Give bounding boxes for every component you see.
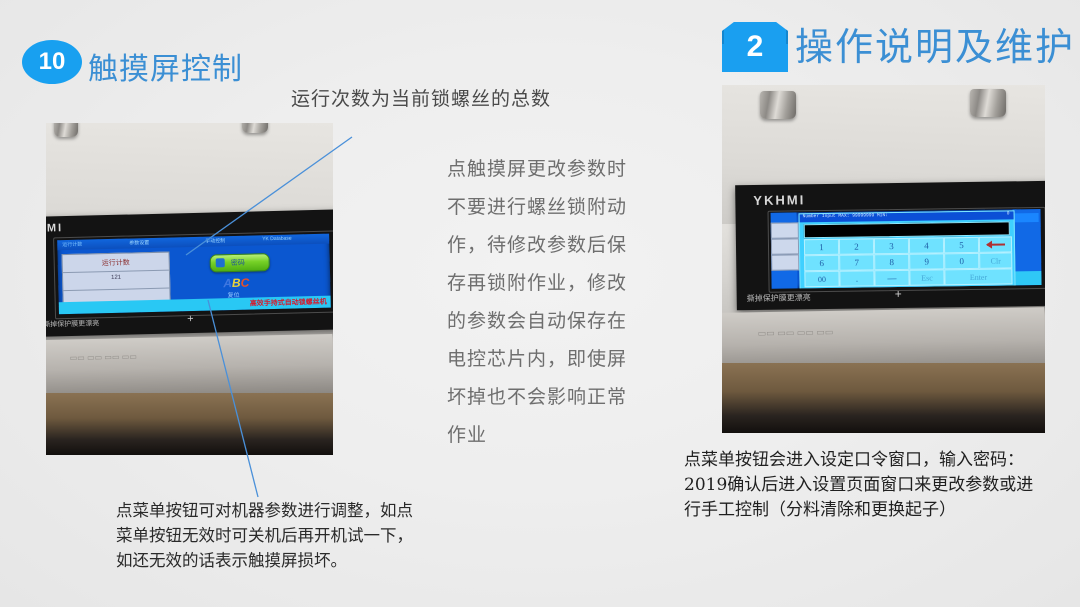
keypad-key-6[interactable]: 6 [804, 255, 839, 271]
panel-brand-label: YKHMI [753, 192, 805, 208]
hmi-right-footer [1013, 271, 1041, 285]
desk-surface [46, 393, 333, 455]
table-row-value: 121 [63, 274, 169, 283]
right-machine-photo: YKHMI Number Input MAX: 99999999 MIN: 0 [722, 85, 1045, 433]
panel-protective-film-note: 撕掉保护膜更漂亮 [747, 292, 811, 304]
hmi-password-button-label: 密码 [231, 258, 245, 268]
section-badge-2: 2 [722, 22, 788, 72]
center-instruction-paragraph: 点触摸屏更改参数时不要进行螺丝锁附动作，待修改参数后保存再锁附作业，修改的参数会… [447, 150, 627, 454]
keypad-key-minus[interactable]: — [874, 270, 909, 286]
hmi-right-tab[interactable] [1015, 213, 1039, 222]
table-cell [771, 254, 799, 270]
control-panel: YKHMI Number Input MAX: 99999999 MIN: 0 [735, 181, 1045, 310]
panel-protective-film-note: 撕掉保护膜更漂亮 [46, 318, 99, 329]
keypad-key-clear[interactable]: Clr [979, 252, 1012, 268]
keypad-key-enter[interactable]: Enter [944, 268, 1012, 285]
hmi-tab-run-count[interactable]: 运行计数 [62, 241, 82, 248]
table-cell [771, 238, 799, 254]
keypad-key-1[interactable]: 1 [804, 239, 839, 255]
abc-logo-icon: ABC [223, 276, 249, 291]
hmi-password-button[interactable]: 密码 [210, 253, 270, 272]
hmi-tab-database[interactable]: YK Database [262, 236, 292, 243]
table-divider [63, 270, 169, 274]
keypad-key-7[interactable]: 7 [839, 254, 874, 270]
base-marking-text: ▭▭ ▭▭ ▭▭ ▭▭ [758, 327, 834, 339]
left-section-title: 触摸屏控制 [88, 44, 243, 88]
desk-surface [722, 363, 1045, 433]
table-row-label: 运行计数 [63, 257, 169, 270]
hmi-tab-manual[interactable]: 手动控制 [205, 237, 225, 244]
dialog-title-text: Number Input MAX: 99999999 MIN: [803, 213, 889, 219]
right-section-title: 操作说明及维护 [795, 16, 1075, 71]
plus-marker-icon: + [895, 287, 902, 301]
keypad-key-double-zero[interactable]: 00 [804, 271, 839, 287]
bolt-icon [760, 91, 796, 119]
number-input-dialog: Number Input MAX: 99999999 MIN: 0 1 2 3 … [799, 210, 1016, 288]
keypad-key-3[interactable]: 3 [874, 238, 909, 254]
left-callout-label: 运行次数为当前锁螺丝的总数 [291, 84, 551, 111]
plus-marker-icon: + [187, 313, 194, 325]
left-caption-paragraph: 点菜单按钮可对机器参数进行调整，如点菜单按钮无效时可关机后再开机试一下，如还无效… [116, 498, 416, 573]
table-divider [63, 288, 169, 292]
keypad-key-backspace[interactable] [979, 236, 1012, 252]
control-panel: MI 运行计数 参数设置 手动控制 YK Database 运行计数 121 密… [46, 209, 333, 337]
bolt-icon [242, 123, 268, 133]
table-cell [771, 222, 799, 238]
banner-wing-left-icon [710, 28, 724, 44]
hmi-screen[interactable]: 运行计数 参数设置 手动控制 YK Database 运行计数 121 密码 A… [57, 234, 331, 315]
section-badge-2-number: 2 [747, 30, 764, 64]
keypad-key-9[interactable]: 9 [909, 253, 944, 269]
number-input-display[interactable] [804, 221, 1010, 238]
keypad-key-5[interactable]: 5 [944, 237, 979, 253]
keypad-key-2[interactable]: 2 [839, 238, 874, 254]
section-badge-10: 10 [22, 40, 82, 84]
bolt-icon [54, 123, 78, 137]
hmi-footer-text: 高效手持式自动锁螺丝机 [250, 297, 327, 309]
slide-root: 10 触摸屏控制 2 操作说明及维护 运行次数为当前锁螺丝的总数 MI 运行计数… [0, 0, 1080, 607]
lock-icon [216, 258, 225, 267]
right-caption-paragraph: 点菜单按钮会进入设定口令窗口，输入密码：2019确认后进入设置页面窗口来更改参数… [684, 448, 1034, 523]
backspace-arrow-icon [987, 243, 1005, 245]
base-marking-text: ▭▭ ▭▭ ▭▭ ▭▭ [70, 352, 137, 362]
keypad-key-8[interactable]: 8 [874, 254, 909, 270]
dialog-title-value: 0 [1007, 211, 1010, 216]
panel-brand-label: MI [47, 222, 64, 234]
section-badge-10-number: 10 [39, 48, 66, 76]
keypad-key-escape[interactable]: Esc [909, 269, 944, 285]
hmi-screen[interactable]: Number Input MAX: 99999999 MIN: 0 1 2 3 … [771, 209, 1042, 289]
hmi-tab-param-set[interactable]: 参数设置 [129, 239, 149, 246]
left-machine-photo: MI 运行计数 参数设置 手动控制 YK Database 运行计数 121 密… [46, 123, 333, 455]
bolt-icon [970, 89, 1006, 117]
keypad-key-4[interactable]: 4 [909, 237, 944, 253]
keypad-key-0[interactable]: 0 [944, 253, 979, 269]
keypad-key-decimal[interactable]: . [839, 270, 874, 286]
